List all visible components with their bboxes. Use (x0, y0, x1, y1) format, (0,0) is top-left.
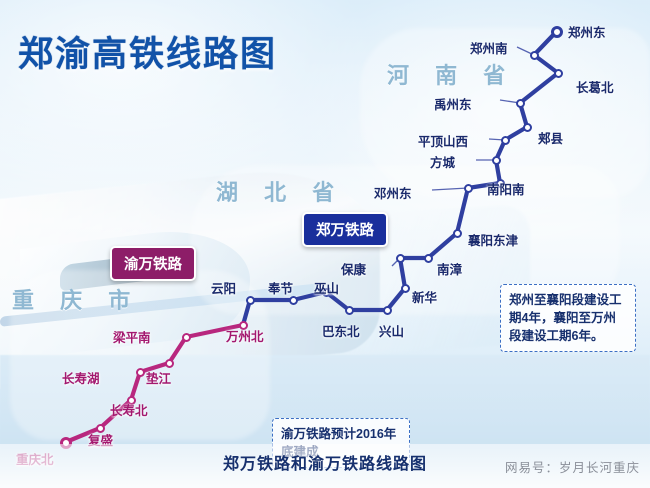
station-label-dengzhoudong: 邓州东 (374, 183, 412, 202)
station-dot-nanzhang[interactable] (424, 254, 433, 263)
station-dot-dianjiang[interactable] (165, 359, 174, 368)
station-label-jiaxian: 郏县 (538, 128, 563, 147)
station-label-fengjie: 奉节 (268, 278, 293, 297)
station-dot-xinhua[interactable] (401, 284, 410, 293)
station-dot-fangcheng[interactable] (492, 156, 501, 165)
station-label-nanyangnan: 南阳南 (487, 179, 525, 198)
station-label-xinhua: 新华 (412, 287, 437, 306)
note-construction-period: 郑州至襄阳段建设工期4年，襄阳至万州段建设工期6年。 (500, 284, 636, 352)
route-tag-zhengwan[interactable]: 郑万铁路 (302, 212, 388, 247)
station-label-nanzhang: 南漳 (437, 259, 462, 278)
station-dot-jiaxian[interactable] (523, 123, 532, 132)
station-label-wanzhoubei: 万州北 (226, 326, 264, 345)
station-dot-fengjie[interactable] (289, 296, 298, 305)
station-dot-dengzhoudong[interactable] (464, 184, 473, 193)
station-label-zhengzhoudong: 郑州东 (568, 22, 606, 41)
station-dot-changgebei[interactable] (554, 69, 563, 78)
station-label-pingdingshanxi: 平顶山西 (418, 131, 468, 150)
station-label-dianjiang: 垫江 (146, 368, 171, 387)
station-label-fangcheng: 方城 (430, 152, 455, 171)
station-dot-xingshan[interactable] (383, 306, 392, 315)
station-label-changgebei: 长葛北 (576, 77, 614, 96)
station-label-liangpingnan: 梁平南 (113, 327, 151, 346)
station-dot-changshouhu[interactable] (136, 368, 145, 377)
station-label-yunyang: 云阳 (211, 278, 236, 297)
station-label-yuzhoudong: 禹州东 (434, 94, 472, 113)
station-dot-baokang[interactable] (396, 254, 405, 263)
station-dot-liangpingnan[interactable] (182, 333, 191, 342)
station-dot-zhengzhoudong[interactable] (551, 26, 563, 38)
watermark-text: 网易号：岁月长河重庆 (505, 457, 640, 476)
station-dot-xiangyangdongjin[interactable] (453, 229, 462, 238)
station-label-changshouhu: 长寿湖 (62, 368, 100, 387)
route-tag-yuwan[interactable]: 渝万铁路 (110, 246, 196, 281)
station-label-zhengzhounan: 郑州南 (470, 38, 508, 57)
station-dot-yuzhoudong[interactable] (516, 99, 525, 108)
station-dot-zhengzhounan[interactable] (530, 51, 539, 60)
station-label-changshoubei: 长寿北 (110, 400, 148, 419)
station-label-xiangyangdongjin: 襄阳东津 (468, 230, 518, 249)
map-infographic: 河 南 省 湖 北 省 重 庆 市 郑渝高铁线路图 郑万铁路 渝万铁路 郑州东 … (0, 0, 650, 488)
station-label-baokang: 保康 (341, 259, 366, 278)
station-dot-pingdingshanxi[interactable] (501, 136, 510, 145)
station-label-badongbei: 巴东北 (322, 321, 360, 340)
station-dot-badongbei[interactable] (345, 306, 354, 315)
station-label-wushan: 巫山 (314, 278, 339, 297)
station-label-xingshan: 兴山 (379, 321, 404, 340)
station-dot-yunyang[interactable] (246, 296, 255, 305)
